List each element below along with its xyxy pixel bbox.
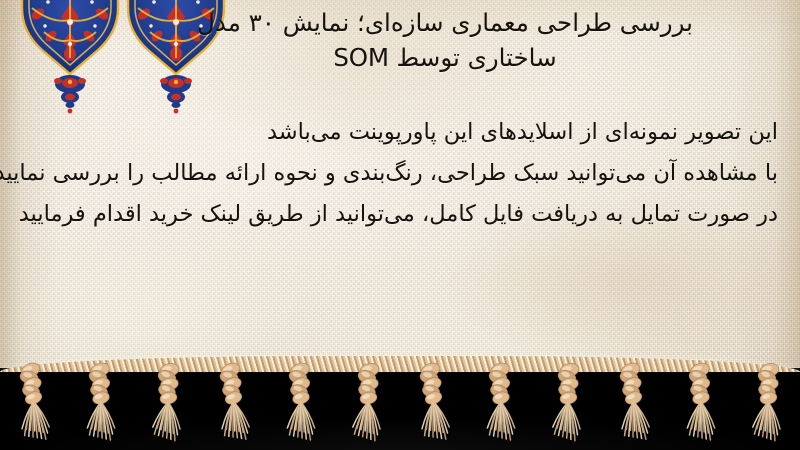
slide-body-line-2: با مشاهده آن می‌توانید سبک طراحی، رنگ‌بن… <box>22 153 778 194</box>
carpet-fringe-tassel <box>605 366 662 443</box>
carpet-fringe-tassel <box>538 366 595 443</box>
carpet-fringe-tassel <box>5 366 62 443</box>
slide-title-line-1: بررسی طراحی معماری سازه‌ای؛ نمایش ۳۰ مدل <box>90 5 800 40</box>
slide-title: بررسی طراحی معماری سازه‌ای؛ نمایش ۳۰ مدل… <box>0 5 800 75</box>
carpet-fringe-tassel <box>205 366 262 443</box>
slide-canvas: بررسی طراحی معماری سازه‌ای؛ نمایش ۳۰ مدل… <box>0 0 800 450</box>
carpet-fringe-tassel <box>138 366 195 443</box>
carpet-fringe-tassel <box>274 368 326 442</box>
carpet-fringe-tassel <box>74 368 126 442</box>
carpet-fringe-tassel <box>474 368 526 442</box>
carpet-fringe-tassel <box>738 366 795 443</box>
carpet-fringe-tassel <box>405 366 462 443</box>
slide-body-line-3: در صورت تمایل به دریافت فایل کامل، می‌تو… <box>22 194 778 235</box>
carpet-fringe-tassel <box>674 368 726 442</box>
carpet-fringe-group <box>0 368 800 450</box>
slide-body-line-1: این تصویر نمونه‌ای از اسلایدهای این پاور… <box>22 112 778 153</box>
slide-body: این تصویر نمونه‌ای از اسلایدهای این پاور… <box>22 112 778 235</box>
slide-title-line-2: ساختاری توسط SOM <box>90 40 800 75</box>
carpet-fringe-tassel <box>338 366 395 443</box>
